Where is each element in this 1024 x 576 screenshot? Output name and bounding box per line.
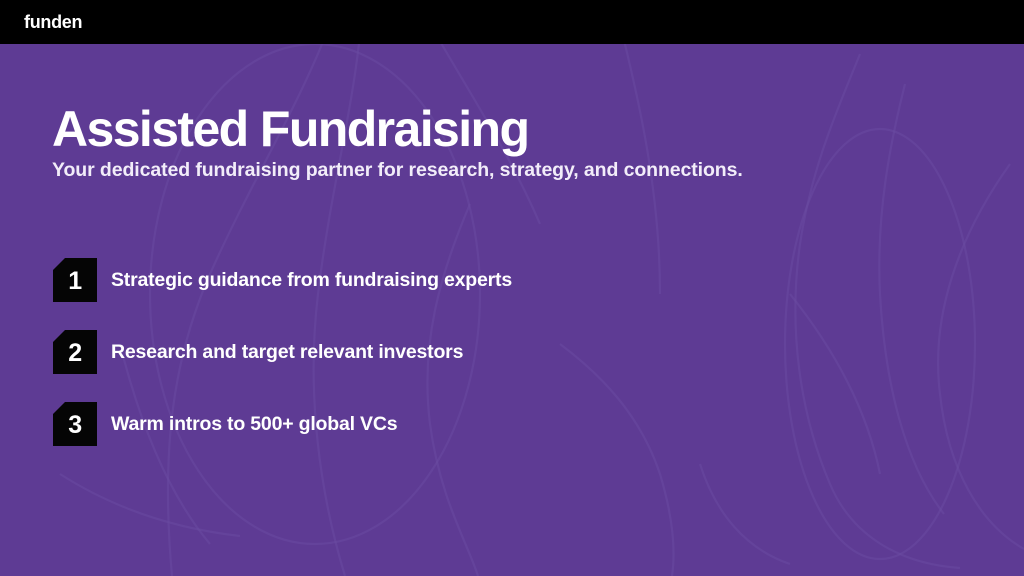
badge-number: 3 [68, 411, 81, 439]
badge-number: 1 [68, 267, 81, 295]
key-points-list: 1 Strategic guidance from fundraising ex… [53, 258, 953, 474]
presentation-slide: funden Assisted Fundraising Your dedicat… [0, 0, 1024, 576]
list-item-label: Strategic guidance from fundraising expe… [111, 268, 512, 292]
slide-content: Assisted Fundraising Your dedicated fund… [0, 44, 1024, 576]
badge-number: 2 [68, 339, 81, 367]
list-item: 2 Research and target relevant investors [53, 330, 953, 374]
page-title: Assisted Fundraising [52, 100, 528, 158]
list-item: 1 Strategic guidance from fundraising ex… [53, 258, 953, 302]
top-bar: funden [0, 0, 1024, 44]
page-subtitle: Your dedicated fundraising partner for r… [52, 157, 743, 183]
number-badge: 3 [53, 402, 97, 446]
number-badge: 2 [53, 330, 97, 374]
brand-logo[interactable]: funden [24, 11, 82, 33]
list-item: 3 Warm intros to 500+ global VCs [53, 402, 953, 446]
list-item-label: Warm intros to 500+ global VCs [111, 412, 397, 436]
list-item-label: Research and target relevant investors [111, 340, 463, 364]
number-badge: 1 [53, 258, 97, 302]
